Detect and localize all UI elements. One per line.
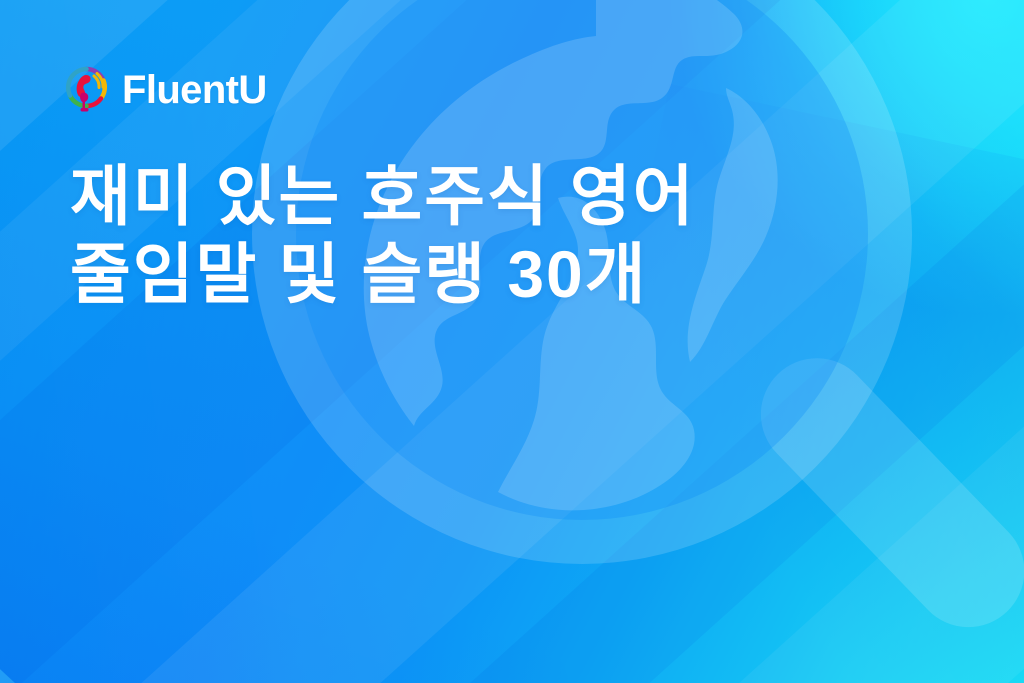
fluentu-article-banner: FluentU 재미 있는 호주식 영어 줄임말 및 슬랭 30개 <box>0 0 1024 683</box>
headline-line-2: 줄임말 및 슬랭 30개 <box>70 236 950 314</box>
globe-magnifier-icon <box>64 66 110 114</box>
fluentu-wordmark: FluentU <box>122 70 267 110</box>
globe-watermark <box>252 0 952 664</box>
headline-line-1: 재미 있는 호주식 영어 <box>70 158 950 236</box>
fluentu-logo[interactable]: FluentU <box>64 66 267 114</box>
headline: 재미 있는 호주식 영어 줄임말 및 슬랭 30개 <box>70 158 950 314</box>
